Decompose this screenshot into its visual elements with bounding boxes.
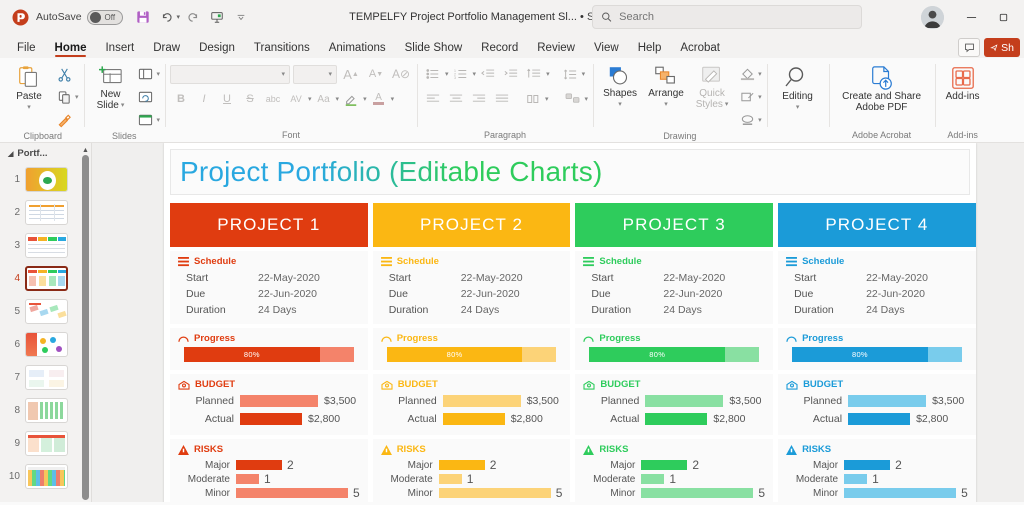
due-key: Due <box>186 286 258 302</box>
page-title: Project Portfolio (Editable Charts) <box>180 156 603 188</box>
planned-value: $3,500 <box>729 395 761 407</box>
restore-button[interactable] <box>988 2 1018 32</box>
increase-font-size-icon[interactable]: A▲ <box>340 63 362 85</box>
thumbnail-number: 5 <box>4 306 20 317</box>
tab-help[interactable]: Help <box>629 40 671 58</box>
shape-effects-chevron-down-icon[interactable]: ▾ <box>758 116 762 124</box>
ribbon-group-slides: New Slide ▾ ▾ <box>84 58 166 143</box>
share-button[interactable]: Sh <box>984 38 1020 57</box>
major-key: Major <box>381 460 433 471</box>
numbering-chevron-down-icon[interactable]: ▾ <box>473 70 477 78</box>
reset-slide-icon[interactable] <box>135 86 157 108</box>
progress-fill: 80% <box>589 347 725 362</box>
schedule-due-row: Due 22-Jun-2020 <box>178 286 360 302</box>
decrease-font-size-icon[interactable]: A▼ <box>365 63 387 85</box>
progress-icon <box>381 334 392 343</box>
risks-title-row: RISKS <box>583 444 765 455</box>
project-card-3[interactable]: PROJECT 3 Schedule Start 22-May-2020 <box>575 203 773 502</box>
due-value: 22-Jun-2020 <box>663 286 722 302</box>
thumbnail-item-3[interactable]: 3 <box>0 229 91 262</box>
shapes-icon <box>607 65 633 88</box>
tab-review[interactable]: Review <box>528 40 584 58</box>
section-icon[interactable] <box>135 109 157 131</box>
card-header: PROJECT 2 <box>373 203 571 247</box>
schedule-start-row: Start 22-May-2020 <box>583 270 765 286</box>
budget-actual-row: Actual $2,800 <box>786 411 968 427</box>
thumbnail-preview[interactable] <box>25 233 68 258</box>
risks-warning-icon <box>583 445 594 455</box>
create-share-pdf-button[interactable]: Create and Share Adobe PDF <box>834 63 930 115</box>
minor-value: 5 <box>961 486 968 500</box>
budget-panel: BUDGET Planned $3,500 Actual $2,800 <box>575 374 773 435</box>
columns-icon[interactable] <box>522 88 544 110</box>
moderate-value: 1 <box>467 472 474 486</box>
thumbnail-item-6[interactable]: 6 <box>0 328 91 361</box>
scroll-up-arrow-icon[interactable]: ▲ <box>82 147 89 154</box>
project-card-4[interactable]: PROJECT 4 Schedule Start 22-May-2020 <box>778 203 976 502</box>
columns-chevron-down-icon[interactable]: ▾ <box>545 95 549 103</box>
risks-panel: RISKS Major 2 Moderate 1 <box>778 439 976 502</box>
undo-icon[interactable] <box>156 6 178 28</box>
start-key: Start <box>186 270 258 286</box>
editing-button[interactable]: Editing ▾ <box>772 63 824 115</box>
increase-indent-icon[interactable] <box>500 63 522 85</box>
tab-draw[interactable]: Draw <box>144 40 189 58</box>
moderate-key: Moderate <box>786 474 838 485</box>
slide-canvas[interactable]: Project Portfolio (Editable Charts) PROJ… <box>164 143 976 502</box>
bullets-chevron-down-icon[interactable]: ▾ <box>445 70 449 78</box>
quick-styles-button[interactable]: Quick Styles ▾ <box>690 63 734 112</box>
ribbon-tabs: File Home Insert Draw Design Transitions… <box>0 34 1024 58</box>
minimize-button[interactable] <box>956 2 986 32</box>
search-input[interactable] <box>619 11 853 23</box>
thumbnail-item-5[interactable]: 5 <box>0 295 91 328</box>
new-slide-label-2: Slide <box>97 100 119 111</box>
minor-value: 5 <box>758 486 765 500</box>
align-center-icon[interactable] <box>445 88 467 110</box>
thumbnail-number: 1 <box>4 174 20 185</box>
risk-major-row: Major 2 <box>178 458 360 472</box>
ribbon-group-paragraph: ▾ 1 2 3 ▾ <box>417 58 593 143</box>
tab-design[interactable]: Design <box>190 40 244 58</box>
schedule-duration-row: Duration 24 Days <box>786 302 968 318</box>
schedule-icon <box>381 257 392 267</box>
duration-key: Duration <box>389 302 461 318</box>
budget-label: BUDGET <box>803 379 843 390</box>
thumbnail-preview[interactable] <box>25 167 68 192</box>
layout-chevron-down-icon[interactable]: ▾ <box>157 70 161 78</box>
avatar[interactable] <box>921 6 944 29</box>
risks-title-row: RISKS <box>786 444 968 455</box>
budget-label: BUDGET <box>398 379 438 390</box>
progress-panel: Progress 80% <box>778 328 976 370</box>
tab-file[interactable]: File <box>8 40 45 58</box>
planned-bar <box>848 395 926 407</box>
progress-title-row: Progress <box>786 333 968 344</box>
paste-button[interactable]: Paste ▾ <box>7 63 51 115</box>
thumbnail-preview[interactable] <box>25 332 68 357</box>
progress-bar[interactable]: 80% <box>792 347 962 362</box>
actual-key: Actual <box>178 413 234 425</box>
shape-fill-icon[interactable] <box>736 63 758 85</box>
character-spacing-icon[interactable]: AV <box>285 88 307 110</box>
smartart-chevron-down-icon[interactable]: ▾ <box>585 95 589 103</box>
autosave-label: AutoSave <box>36 11 82 23</box>
start-value: 22-May-2020 <box>258 270 320 286</box>
drawing-group-label: Drawing <box>598 131 762 142</box>
schedule-due-row: Due 22-Jun-2020 <box>583 286 765 302</box>
slides-group-label: Slides <box>89 131 161 142</box>
font-name-combo[interactable]: ▾ <box>170 65 290 84</box>
actual-bar <box>443 413 505 425</box>
schedule-label: Schedule <box>194 256 236 267</box>
addins-button-label: Add-ins <box>946 91 980 102</box>
progress-icon <box>583 334 594 343</box>
start-key: Start <box>591 270 663 286</box>
moderate-value: 1 <box>872 472 879 486</box>
format-painter-icon[interactable] <box>53 109 75 131</box>
tab-home[interactable]: Home <box>46 40 96 58</box>
paste-label: Paste <box>16 91 42 102</box>
risk-minor-row: Minor 5 <box>786 486 968 500</box>
budget-icon <box>583 380 595 390</box>
text-shadow-icon[interactable]: abc <box>262 88 284 110</box>
planned-key: Planned <box>381 395 437 407</box>
risk-minor-row: Minor 5 <box>583 486 765 500</box>
progress-title-row: Progress <box>178 333 360 344</box>
budget-title-row: BUDGET <box>583 379 765 390</box>
save-icon[interactable] <box>132 6 154 28</box>
italic-button[interactable]: I <box>193 88 215 110</box>
progress-title-row: Progress <box>381 333 563 344</box>
risk-moderate-row: Moderate 1 <box>786 472 968 486</box>
moderate-bar <box>844 474 867 484</box>
thumbnail-item-4[interactable]: 4 <box>0 262 91 295</box>
align-right-icon[interactable] <box>468 88 490 110</box>
risk-minor-row: Minor 5 <box>178 486 360 500</box>
addins-icon <box>950 65 976 91</box>
line-spacing-chevron-down-icon[interactable]: ▾ <box>546 70 550 78</box>
layout-icon[interactable] <box>135 63 157 85</box>
actual-bar <box>645 413 707 425</box>
adobe-pdf-icon <box>869 65 895 91</box>
duration-value: 24 Days <box>258 302 297 318</box>
ribbon: Paste ▾ <box>0 58 1024 143</box>
major-bar <box>439 460 485 470</box>
new-slide-chevron-down-icon[interactable]: ▾ <box>121 100 125 111</box>
start-value: 22-May-2020 <box>663 270 725 286</box>
progress-icon <box>786 334 797 343</box>
schedule-start-row: Start 22-May-2020 <box>786 270 968 286</box>
thumbnail-number: 6 <box>4 339 20 350</box>
editing-group-label <box>772 140 824 141</box>
budget-panel: BUDGET Planned $3,500 Actual $2,800 <box>170 374 368 435</box>
tab-slide-show[interactable]: Slide Show <box>396 40 472 58</box>
align-left-icon[interactable] <box>422 88 444 110</box>
acrobat-group-label: Adobe Acrobat <box>834 130 930 141</box>
start-value: 22-May-2020 <box>461 270 523 286</box>
schedule-due-row: Due 22-Jun-2020 <box>786 286 968 302</box>
progress-fill: 80% <box>184 347 320 362</box>
share-icon <box>990 43 998 52</box>
thumbnail-item-7[interactable]: 7 <box>0 361 91 394</box>
duration-value: 24 Days <box>461 302 500 318</box>
schedule-icon <box>786 257 797 267</box>
budget-planned-row: Planned $3,500 <box>583 393 765 409</box>
thumbnail-number: 3 <box>4 240 20 251</box>
risk-moderate-row: Moderate 1 <box>381 472 563 486</box>
planned-value: $3,500 <box>527 395 559 407</box>
start-value: 22-May-2020 <box>866 270 928 286</box>
budget-label: BUDGET <box>600 379 640 390</box>
underline-button[interactable]: U <box>216 88 238 110</box>
main-area: ◢ Portf... 1 2 <box>0 143 1024 502</box>
thumbnail-item-8[interactable]: 8 <box>0 394 91 427</box>
decrease-indent-icon[interactable] <box>477 63 499 85</box>
moderate-value: 1 <box>264 472 271 486</box>
thumbnail-preview-selected[interactable] <box>25 266 68 291</box>
bullets-icon[interactable] <box>422 63 444 85</box>
thumbnail-number: 2 <box>4 207 20 218</box>
create-share-pdf-line1: Create and Share <box>842 91 921 102</box>
arrange-button[interactable]: Arrange ▾ <box>644 63 688 112</box>
font-size-combo[interactable]: ▾ <box>293 65 337 84</box>
risks-label: RISKS <box>397 444 426 455</box>
editing-chevron-down-icon[interactable]: ▾ <box>796 102 800 113</box>
schedule-duration-row: Duration 24 Days <box>178 302 360 318</box>
paste-chevron-down-icon[interactable]: ▾ <box>27 102 31 113</box>
budget-icon <box>381 380 393 390</box>
shape-outline-icon[interactable] <box>736 86 758 108</box>
shapes-button[interactable]: Shapes ▾ <box>598 63 642 112</box>
powerpoint-window: AutoSave Off ▾ <box>0 0 1024 505</box>
project-card-2[interactable]: PROJECT 2 Schedule Start 22-May-2020 <box>373 203 571 502</box>
thumbnail-preview[interactable] <box>25 464 68 489</box>
actual-key: Actual <box>786 413 842 425</box>
risks-panel: RISKS Major 2 Moderate 1 <box>170 439 368 502</box>
schedule-start-row: Start 22-May-2020 <box>178 270 360 286</box>
risk-major-row: Major 2 <box>381 458 563 472</box>
risk-minor-row: Minor 5 <box>381 486 563 500</box>
risk-major-row: Major 2 <box>786 458 968 472</box>
major-bar <box>641 460 687 470</box>
text-highlight-icon[interactable] <box>340 88 362 110</box>
scrollbar-thumb[interactable] <box>82 155 89 500</box>
due-value: 22-Jun-2020 <box>461 286 520 302</box>
change-case-icon[interactable]: Aa <box>313 88 335 110</box>
budget-label: BUDGET <box>195 379 235 390</box>
progress-bar[interactable]: 80% <box>184 347 354 362</box>
undo-dropdown-icon[interactable]: ▾ <box>177 13 181 21</box>
numbering-icon[interactable]: 1 2 3 <box>450 63 472 85</box>
bold-button[interactable]: B <box>170 88 192 110</box>
planned-key: Planned <box>178 395 234 407</box>
section-chevron-down-icon[interactable]: ▾ <box>157 116 161 124</box>
risks-warning-icon <box>178 445 189 455</box>
justify-icon[interactable] <box>491 88 513 110</box>
schedule-duration-row: Duration 24 Days <box>583 302 765 318</box>
text-highlight-chevron-down-icon[interactable]: ▾ <box>363 95 367 103</box>
ribbon-group-clipboard: Paste ▾ <box>2 58 84 143</box>
clear-formatting-icon[interactable]: A⊘ <box>390 63 412 85</box>
text-direction-icon[interactable] <box>559 63 581 85</box>
font-name-chevron-down-icon[interactable]: ▾ <box>282 70 286 78</box>
moderate-bar <box>439 474 462 484</box>
due-key: Due <box>591 286 663 302</box>
font-size-chevron-down-icon[interactable]: ▾ <box>329 70 333 78</box>
tab-animations[interactable]: Animations <box>320 40 395 58</box>
schedule-icon <box>583 257 594 267</box>
planned-bar <box>443 395 521 407</box>
start-key: Start <box>794 270 866 286</box>
tab-view[interactable]: View <box>585 40 628 58</box>
progress-bar[interactable]: 80% <box>589 347 759 362</box>
actual-value: $2,800 <box>511 413 543 425</box>
risks-warning-icon <box>786 445 797 455</box>
addins-button[interactable]: Add-ins <box>940 63 986 104</box>
risks-warning-icon <box>381 445 392 455</box>
tab-acrobat[interactable]: Acrobat <box>671 40 729 58</box>
new-slide-button[interactable]: New Slide ▾ <box>89 63 133 113</box>
major-value: 2 <box>490 458 497 472</box>
create-share-pdf-line2: Adobe PDF <box>856 102 908 113</box>
budget-planned-row: Planned $3,500 <box>381 393 563 409</box>
minor-key: Minor <box>583 488 635 499</box>
risk-moderate-row: Moderate 1 <box>583 472 765 486</box>
quick-access-toolbar: ▾ <box>132 6 253 28</box>
progress-panel: Progress 80% <box>170 328 368 370</box>
font-color-chevron-down-icon[interactable]: ▾ <box>391 95 395 103</box>
actual-value: $2,800 <box>308 413 340 425</box>
card-header: PROJECT 4 <box>778 203 976 247</box>
budget-panel: BUDGET Planned $3,500 Actual $2,800 <box>778 374 976 435</box>
shape-fill-chevron-down-icon[interactable]: ▾ <box>758 70 762 78</box>
thumbnail-number: 4 <box>4 273 20 284</box>
convert-smartart-icon[interactable] <box>562 88 584 110</box>
thumbnail-preview[interactable] <box>25 365 68 390</box>
thumbnail-preview[interactable] <box>25 200 68 225</box>
risks-title-row: RISKS <box>178 444 360 455</box>
tab-record[interactable]: Record <box>472 40 527 58</box>
powerpoint-logo-icon <box>10 7 30 27</box>
section-label: Portf... <box>17 148 47 159</box>
budget-actual-row: Actual $2,800 <box>178 411 360 427</box>
risk-major-row: Major 2 <box>583 458 765 472</box>
major-bar <box>236 460 282 470</box>
schedule-label: Schedule <box>397 256 439 267</box>
thumbnail-preview[interactable] <box>25 398 68 423</box>
duration-value: 24 Days <box>663 302 702 318</box>
tab-insert[interactable]: Insert <box>96 40 143 58</box>
comments-icon[interactable] <box>958 38 980 57</box>
copy-icon[interactable] <box>53 86 75 108</box>
section-header[interactable]: ◢ Portf... <box>0 143 91 163</box>
moderate-value: 1 <box>669 472 676 486</box>
minor-value: 5 <box>353 486 360 500</box>
schedule-label: Schedule <box>802 256 844 267</box>
progress-label: Progress <box>194 333 235 344</box>
tab-transitions[interactable]: Transitions <box>245 40 319 58</box>
progress-label: Progress <box>599 333 640 344</box>
duration-key: Duration <box>591 302 663 318</box>
window-controls <box>921 0 1018 34</box>
budget-panel: BUDGET Planned $3,500 Actual $2,800 <box>373 374 571 435</box>
slide-thumbnail-pane: ◢ Portf... 1 2 <box>0 143 92 502</box>
redo-icon[interactable] <box>182 6 204 28</box>
change-case-chevron-down-icon[interactable]: ▾ <box>336 95 340 103</box>
arrange-icon <box>653 65 679 88</box>
search-box[interactable] <box>592 5 862 29</box>
progress-label: Progress <box>802 333 843 344</box>
ribbon-group-acrobat: Create and Share Adobe PDF Adobe Acrobat <box>829 58 935 143</box>
editing-label: Editing <box>782 91 813 102</box>
thumbnail-item-2[interactable]: 2 <box>0 196 91 229</box>
slide-edit-pane: Project Portfolio (Editable Charts) PROJ… <box>92 143 1024 502</box>
card-header: PROJECT 1 <box>170 203 368 247</box>
moderate-bar <box>641 474 664 484</box>
thumbnail-number: 8 <box>4 405 20 416</box>
shape-outline-chevron-down-icon[interactable]: ▾ <box>758 93 762 101</box>
ribbon-group-drawing: Shapes ▾ Arrange ▾ <box>593 58 767 143</box>
quick-styles-label-2: Styles <box>696 99 723 110</box>
line-spacing-icon[interactable] <box>523 63 545 85</box>
schedule-duration-row: Duration 24 Days <box>381 302 563 318</box>
new-slide-label-1: New <box>101 89 121 100</box>
font-color-icon[interactable]: A <box>368 88 390 110</box>
progress-bar[interactable]: 80% <box>387 347 557 362</box>
card-header: PROJECT 3 <box>575 203 773 247</box>
thumbnail-item-1[interactable]: 1 <box>0 163 91 196</box>
shape-effects-icon[interactable] <box>736 109 758 131</box>
minor-key: Minor <box>786 488 838 499</box>
arrange-chevron-down-icon[interactable]: ▾ <box>664 99 668 110</box>
project-card-1[interactable]: PROJECT 1 Schedule Start 22-May-2020 <box>170 203 368 502</box>
cut-icon[interactable] <box>53 63 75 85</box>
budget-planned-row: Planned $3,500 <box>178 393 360 409</box>
minor-bar <box>236 488 348 498</box>
character-spacing-chevron-down-icon[interactable]: ▾ <box>308 95 312 103</box>
progress-icon <box>178 334 189 343</box>
slide-title-placeholder[interactable]: Project Portfolio (Editable Charts) <box>170 149 970 195</box>
strikethrough-button[interactable]: S <box>239 88 261 110</box>
text-direction-chevron-down-icon[interactable]: ▾ <box>582 70 586 78</box>
planned-bar <box>240 395 318 407</box>
thumbnail-item-9[interactable]: 9 <box>0 427 91 460</box>
customize-qat-chevron-down-icon[interactable] <box>230 6 252 28</box>
new-slide-icon <box>98 65 124 89</box>
copy-chevron-down-icon[interactable]: ▾ <box>75 93 79 101</box>
risks-panel: RISKS Major 2 Moderate 1 <box>373 439 571 502</box>
quick-styles-icon <box>699 65 725 88</box>
schedule-panel: Schedule Start 22-May-2020 Due 22-Jun-20… <box>778 251 976 324</box>
budget-title-row: BUDGET <box>381 379 563 390</box>
thumbnail-preview[interactable] <box>25 299 68 324</box>
thumbnail-item-10[interactable]: 10 <box>0 460 91 493</box>
duration-key: Duration <box>794 302 866 318</box>
major-value: 2 <box>692 458 699 472</box>
thumbnail-preview[interactable] <box>25 431 68 456</box>
budget-actual-row: Actual $2,800 <box>381 411 563 427</box>
present-icon[interactable] <box>206 6 228 28</box>
autosave-toggle[interactable]: Off <box>87 10 123 25</box>
shapes-chevron-down-icon[interactable]: ▾ <box>618 99 622 110</box>
thumbnail-scrollbar[interactable]: ▲ <box>82 147 89 500</box>
title-bar: AutoSave Off ▾ <box>0 0 1024 34</box>
quick-styles-chevron-down-icon[interactable]: ▾ <box>725 99 729 110</box>
section-collapse-icon[interactable]: ◢ <box>8 150 13 158</box>
document-title[interactable]: TEMPELFY Project Portfolio Management Sl… <box>349 11 577 23</box>
moderate-key: Moderate <box>178 474 230 485</box>
